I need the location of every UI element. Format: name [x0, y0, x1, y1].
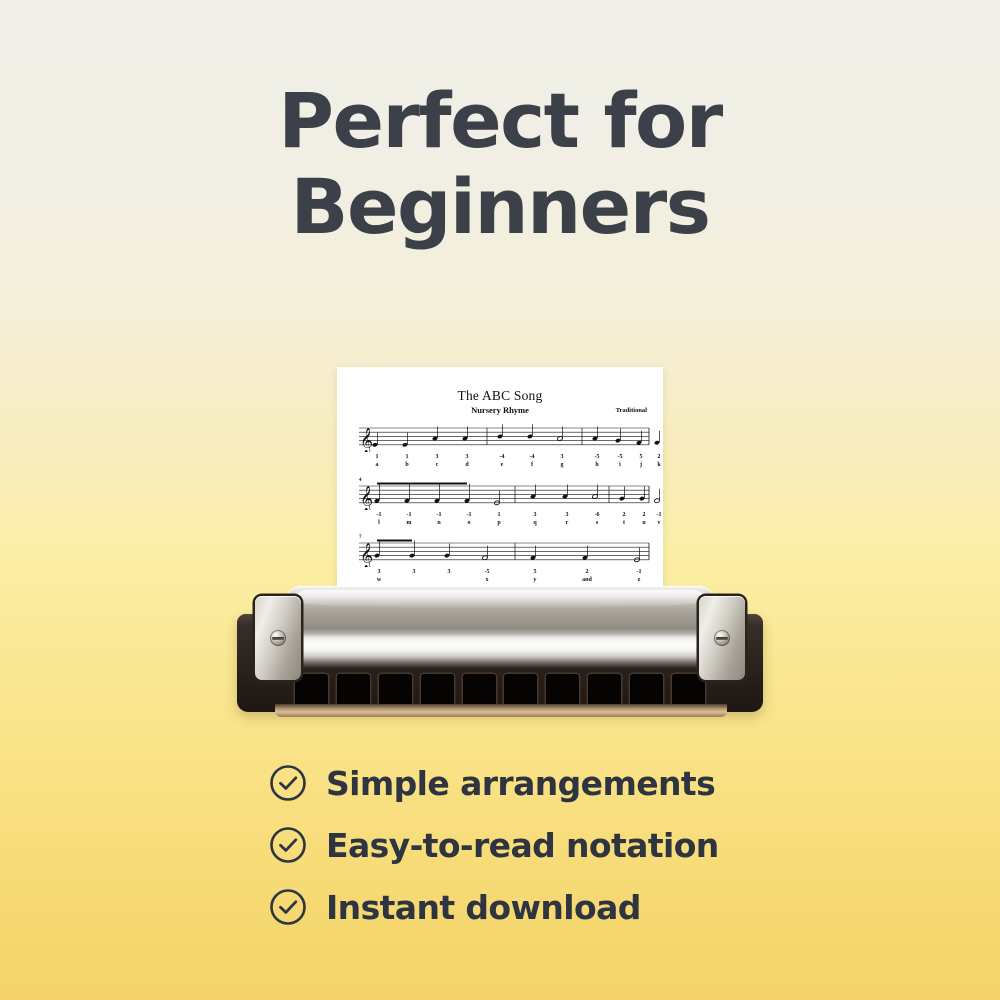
- tab-cell: 1b: [396, 453, 418, 469]
- tab-number: -1: [648, 511, 663, 519]
- screw-icon: [714, 630, 730, 646]
- promo-canvas: Perfect for Beginners The ABC Song Nurse…: [0, 0, 1000, 1000]
- lyric-syllable: e: [491, 461, 513, 469]
- lyric-syllable: q: [524, 519, 546, 527]
- lyric-syllable: s: [586, 519, 608, 527]
- note: [404, 484, 410, 504]
- svg-text:𝄞: 𝄞: [360, 485, 373, 510]
- tab-cell: 2k: [648, 453, 663, 469]
- note: [432, 427, 438, 442]
- note: [482, 546, 488, 561]
- note: [444, 544, 450, 559]
- tab-cell: -5i: [609, 453, 631, 469]
- lyric-syllable: b: [396, 461, 418, 469]
- tab-cell: 1a: [366, 453, 388, 469]
- tab-cell: 5y: [524, 568, 546, 584]
- tab-number: -5: [586, 453, 608, 461]
- check-circle-icon: [268, 825, 308, 865]
- tab-cell: -1v: [648, 511, 663, 527]
- lyric-syllable: i: [609, 461, 631, 469]
- note: [592, 427, 598, 442]
- lyric-syllable: x: [476, 576, 498, 584]
- tab-number: -4: [491, 453, 513, 461]
- tab-number: 3: [456, 453, 478, 461]
- sheet-music-title: The ABC Song: [337, 388, 663, 404]
- tab-cell: 3d: [456, 453, 478, 469]
- lyric-syllable: f: [521, 461, 543, 469]
- tab-number: 3: [438, 568, 460, 576]
- lyric-syllable: g: [551, 461, 573, 469]
- feature-item: Simple arrangements: [268, 752, 788, 814]
- tab-cell: 3g: [551, 453, 573, 469]
- lyric-syllable: n: [428, 519, 450, 527]
- tab-cell: -1m: [398, 511, 420, 527]
- feature-item: Easy-to-read notation: [268, 814, 788, 876]
- harmonica-illustration: [237, 586, 763, 728]
- tab-number: -5: [609, 453, 631, 461]
- tab-number: -1: [628, 568, 650, 576]
- tab-number: -1: [368, 511, 390, 519]
- note: [639, 487, 645, 502]
- tab-cell: 3q: [524, 511, 546, 527]
- note: [654, 431, 660, 446]
- tab-cell: -5h: [586, 453, 608, 469]
- svg-text:𝄞: 𝄞: [360, 427, 373, 452]
- tab-cell: 2and: [576, 568, 598, 584]
- tab-cell: -1z: [628, 568, 650, 584]
- tab-cell: -1n: [428, 511, 450, 527]
- music-staff: 𝄞4-1l-1m-1n-1o1p3q3r-6s2t2u-1v: [337, 480, 663, 510]
- svg-text:𝄞: 𝄞: [360, 542, 373, 567]
- lyric-syllable: k: [648, 461, 663, 469]
- lyric-syllable: a: [366, 461, 388, 469]
- tab-number: -1: [428, 511, 450, 519]
- tab-number: 3: [426, 453, 448, 461]
- tab-cell: -1o: [458, 511, 480, 527]
- lyric-syllable: o: [458, 519, 480, 527]
- note: [557, 427, 563, 442]
- tab-cell: -4f: [521, 453, 543, 469]
- harmonica-end-plate-right: [699, 596, 745, 680]
- tab-number: 3: [403, 568, 425, 576]
- staff-notation: 𝄞: [337, 537, 663, 567]
- note: [582, 546, 588, 561]
- tab-number: -6: [586, 511, 608, 519]
- tab-number: -4: [521, 453, 543, 461]
- lyric-syllable: c: [426, 461, 448, 469]
- harmonica-cover-highlight: [295, 590, 705, 608]
- note: [497, 424, 503, 439]
- tab-cell: -1l: [368, 511, 390, 527]
- note: [634, 548, 640, 563]
- note: [615, 429, 621, 444]
- tab-cell: 3r: [556, 511, 578, 527]
- sheet-music-composer: Traditional: [616, 407, 647, 414]
- page-title: Perfect for Beginners: [0, 78, 1000, 250]
- feature-item: Instant download: [268, 876, 788, 938]
- tab-number: 1: [396, 453, 418, 461]
- tab-cell: -5x: [476, 568, 498, 584]
- tab-cell: 2t: [613, 511, 635, 527]
- note: [619, 487, 625, 502]
- lyric-syllable: d: [456, 461, 478, 469]
- note: [374, 484, 380, 504]
- note: [464, 484, 470, 504]
- tab-number: 3: [524, 511, 546, 519]
- lyric-syllable: p: [488, 519, 510, 527]
- lyric-syllable: r: [556, 519, 578, 527]
- check-circle-icon: [268, 887, 308, 927]
- tab-cell: 3: [403, 568, 425, 576]
- lyric-syllable: z: [628, 576, 650, 584]
- tab-number: 2: [613, 511, 635, 519]
- note: [494, 491, 500, 506]
- note: [562, 485, 568, 500]
- feature-label: Instant download: [326, 888, 641, 927]
- check-circle-icon: [268, 763, 308, 803]
- tab-cell: 3w: [368, 568, 390, 584]
- tab-number: 3: [368, 568, 390, 576]
- sheet-music-paper: The ABC Song Nursery Rhyme Traditional 𝄞…: [337, 367, 663, 597]
- tab-cell: 3c: [426, 453, 448, 469]
- tab-number: 3: [556, 511, 578, 519]
- tab-number: -5: [476, 568, 498, 576]
- note: [462, 427, 468, 442]
- lyric-syllable: m: [398, 519, 420, 527]
- tab-cell: -4e: [491, 453, 513, 469]
- feature-label: Easy-to-read notation: [326, 826, 719, 865]
- headline-line-1: Perfect for: [0, 78, 1000, 164]
- harmonica-tab-row: 1a1b3c3d-4e-4f3g-5h-5i5j2k: [337, 453, 663, 475]
- staff-notation: 𝄞: [337, 480, 663, 510]
- music-staff: 𝄞1a1b3c3d-4e-4f3g-5h-5i5j2k: [337, 422, 663, 452]
- measure-number: 7: [359, 535, 362, 540]
- feature-list: Simple arrangementsEasy-to-read notation…: [268, 752, 788, 938]
- tab-cell: 3: [438, 568, 460, 576]
- measure-number: 4: [359, 478, 362, 483]
- tab-number: 2: [648, 453, 663, 461]
- lyric-syllable: and: [576, 576, 598, 584]
- note: [434, 484, 440, 504]
- harmonica-end-plate-left: [255, 596, 301, 680]
- note: [402, 433, 408, 448]
- note: [530, 485, 536, 500]
- harmonica-bottom-plate: [275, 704, 727, 717]
- tab-number: -1: [398, 511, 420, 519]
- tab-number: 3: [551, 453, 573, 461]
- note: [592, 485, 598, 500]
- music-staff: 𝄞73w33-5x5y2and-1z: [337, 537, 663, 567]
- feature-label: Simple arrangements: [326, 764, 715, 803]
- tab-number: 2: [576, 568, 598, 576]
- tab-number: 5: [524, 568, 546, 576]
- lyric-syllable: l: [368, 519, 390, 527]
- lyric-syllable: y: [524, 576, 546, 584]
- lyric-syllable: h: [586, 461, 608, 469]
- staff-notation: 𝄞: [337, 422, 663, 452]
- lyric-syllable: v: [648, 519, 663, 527]
- note: [530, 546, 536, 561]
- tab-number: 1: [488, 511, 510, 519]
- screw-icon: [270, 630, 286, 646]
- note: [636, 431, 642, 446]
- note: [527, 424, 533, 439]
- sheet-music-subtitle: Nursery Rhyme: [337, 405, 663, 415]
- lyric-syllable: t: [613, 519, 635, 527]
- tab-number: 1: [366, 453, 388, 461]
- harmonica-cover-plate: [285, 586, 715, 668]
- tab-cell: -6s: [586, 511, 608, 527]
- headline-line-2: Beginners: [0, 164, 1000, 250]
- tab-number: -1: [458, 511, 480, 519]
- tab-cell: 1p: [488, 511, 510, 527]
- note: [654, 489, 660, 504]
- lyric-syllable: w: [368, 576, 390, 584]
- harmonica-tab-row: -1l-1m-1n-1o1p3q3r-6s2t2u-1v: [337, 511, 663, 533]
